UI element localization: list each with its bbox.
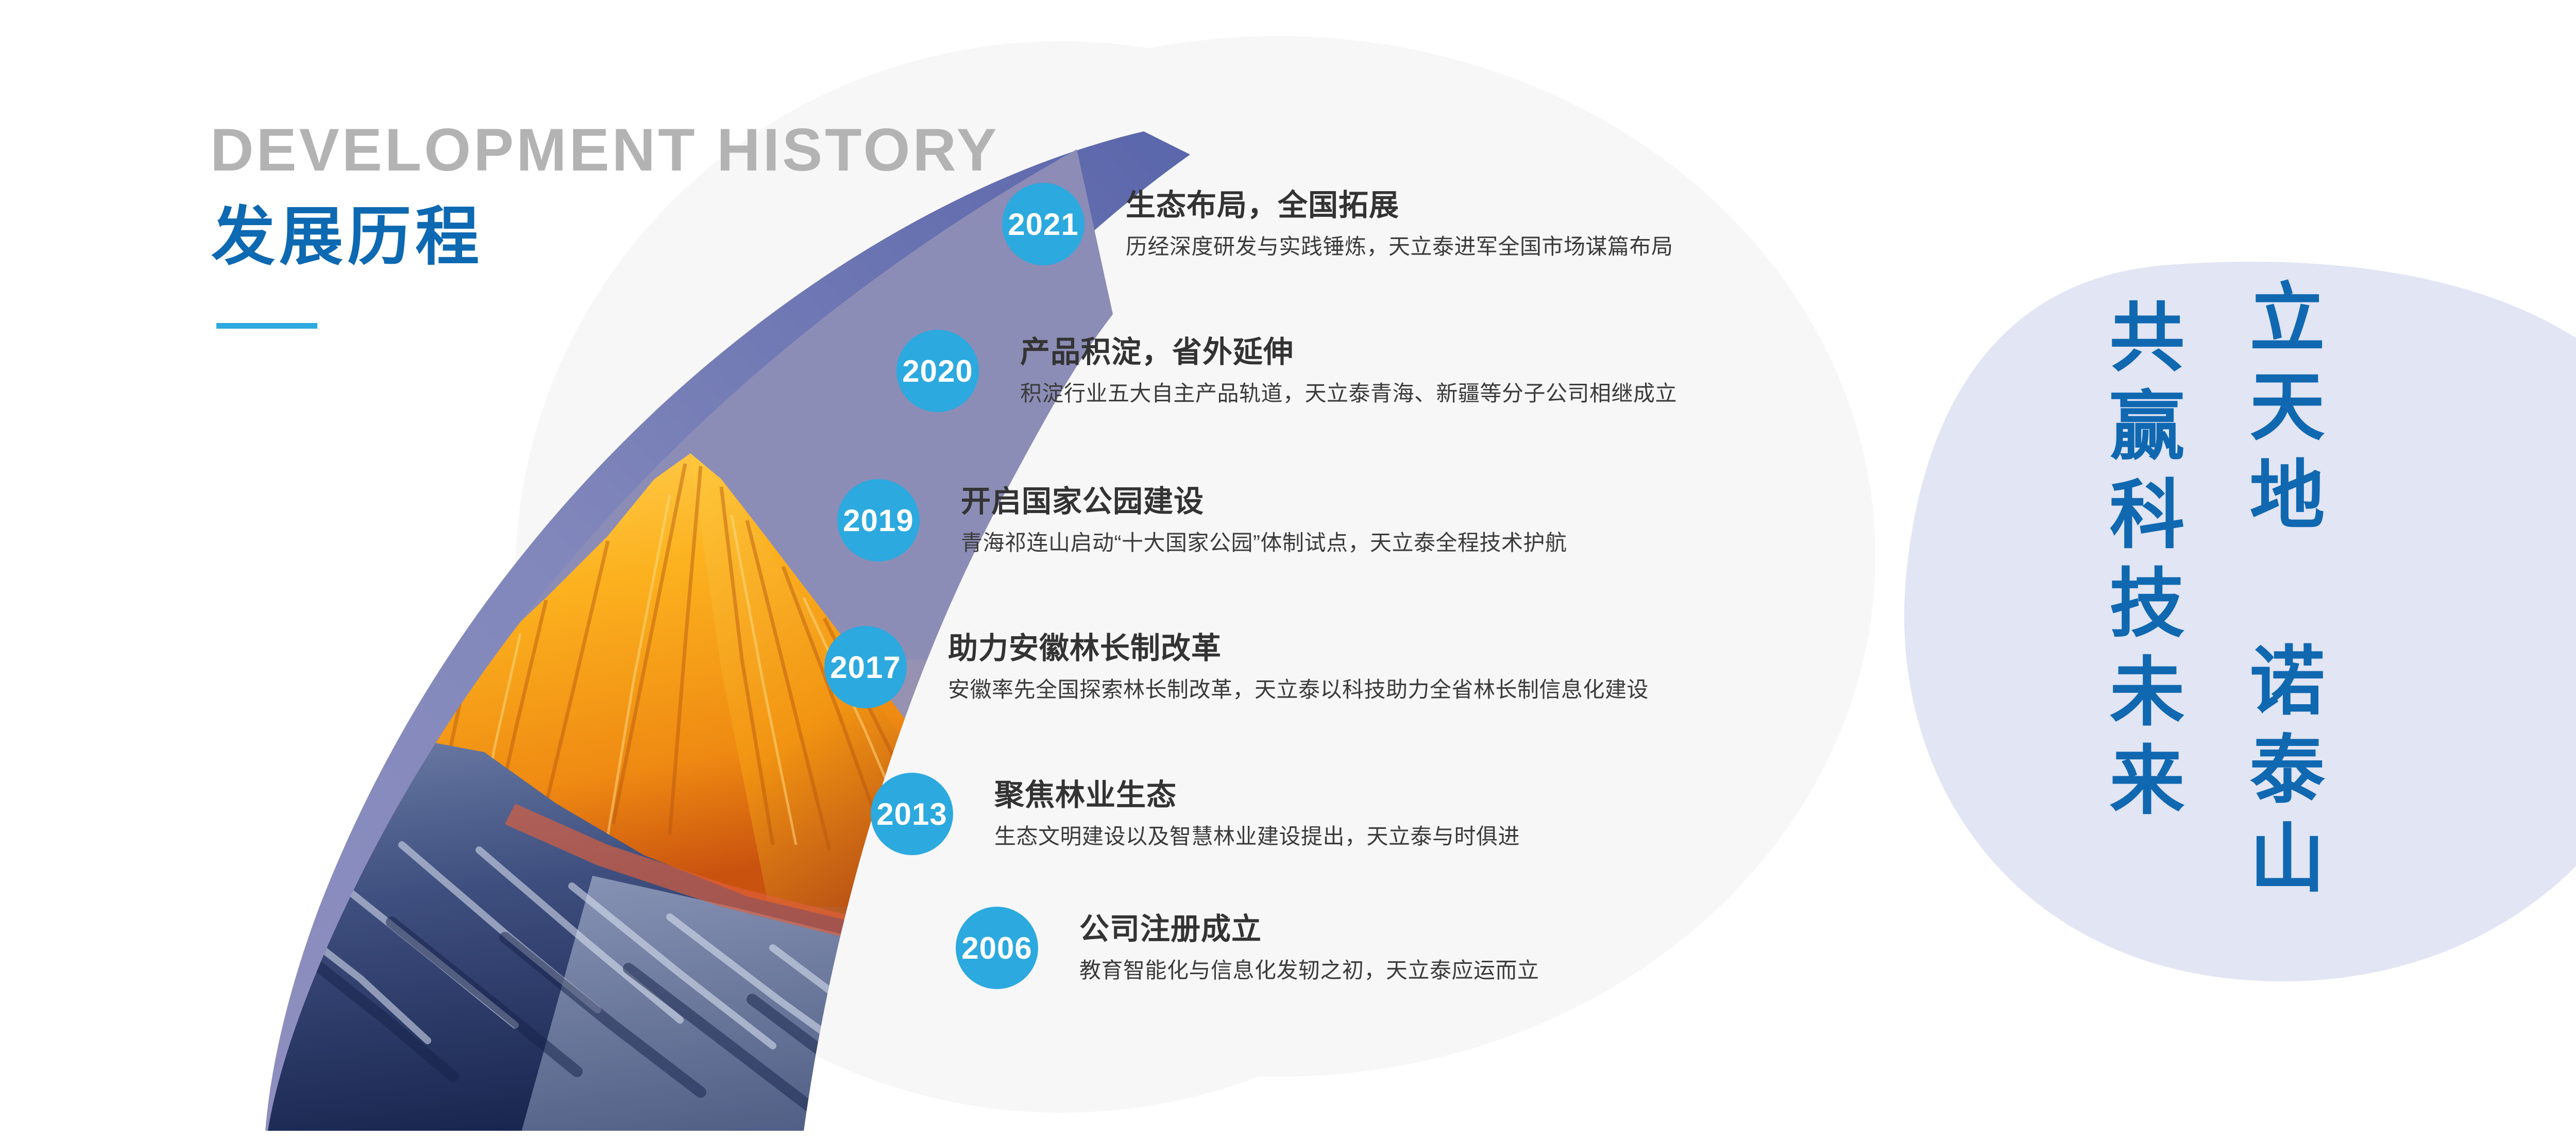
page-title-en: DEVELOPMENT HISTORY	[210, 120, 999, 180]
timeline-title: 生态布局，全国拓展	[1126, 191, 1673, 220]
timeline-title: 开启国家公园建设	[961, 487, 1567, 517]
timeline-year-badge[interactable]: 2021	[1002, 183, 1084, 265]
timeline-text-block: 开启国家公园建设 青海祁连山启动“十大国家公园”体制试点，天立泰全程技术护航	[961, 487, 1567, 554]
timeline-year-badge[interactable]: 2020	[896, 330, 979, 412]
timeline-desc: 安徽率先全国探索林长制改革，天立泰以科技助力全省林长制信息化建设	[948, 679, 1649, 701]
slide-canvas: DEVELOPMENT HISTORY 发展历程 2021 生态布局，全国拓展 …	[0, 0, 2576, 1139]
timeline-text-block: 公司注册成立 教育智能化与信息化发轫之初，天立泰应运而立	[1079, 914, 1539, 981]
timeline-text-block: 生态布局，全国拓展 历经深度研发与实践锤炼，天立泰进军全国市场谋篇布局	[1126, 191, 1673, 258]
timeline-desc: 青海祁连山启动“十大国家公园”体制试点，天立泰全程技术护航	[961, 532, 1567, 554]
timeline-desc: 历经深度研发与实践锤炼，天立泰进军全国市场谋篇布局	[1126, 236, 1673, 258]
timeline-title: 产品积淀，省外延伸	[1020, 337, 1677, 367]
timeline-year-badge[interactable]: 2006	[956, 907, 1038, 989]
timeline-year-badge[interactable]: 2019	[837, 479, 920, 562]
page-title-cn: 发展历程	[211, 205, 483, 269]
slogan-column-right: 立天地 诺泰山	[2243, 278, 2318, 907]
timeline-title: 助力安徽林长制改革	[948, 634, 1649, 664]
slogan-column-left: 共赢科技未来	[2103, 298, 2178, 829]
timeline-desc: 积淀行业五大自主产品轨道，天立泰青海、新疆等分子公司相继成立	[1020, 383, 1677, 404]
timeline-desc: 生态文明建设以及智慧林业建设提出，天立泰与时俱进	[994, 826, 1520, 847]
timeline-year-badge[interactable]: 2017	[824, 626, 907, 708]
timeline-desc: 教育智能化与信息化发轫之初，天立泰应运而立	[1079, 960, 1539, 981]
timeline-title: 聚焦林业生态	[994, 780, 1520, 810]
timeline-text-block: 产品积淀，省外延伸 积淀行业五大自主产品轨道，天立泰青海、新疆等分子公司相继成立	[1020, 337, 1677, 404]
timeline-year-badge[interactable]: 2013	[871, 773, 953, 855]
timeline-text-block: 聚焦林业生态 生态文明建设以及智慧林业建设提出，天立泰与时俱进	[994, 780, 1520, 847]
timeline-title: 公司注册成立	[1079, 914, 1539, 944]
timeline-text-block: 助力安徽林长制改革 安徽率先全国探索林长制改革，天立泰以科技助力全省林长制信息化…	[948, 634, 1649, 701]
title-underline	[216, 323, 317, 329]
